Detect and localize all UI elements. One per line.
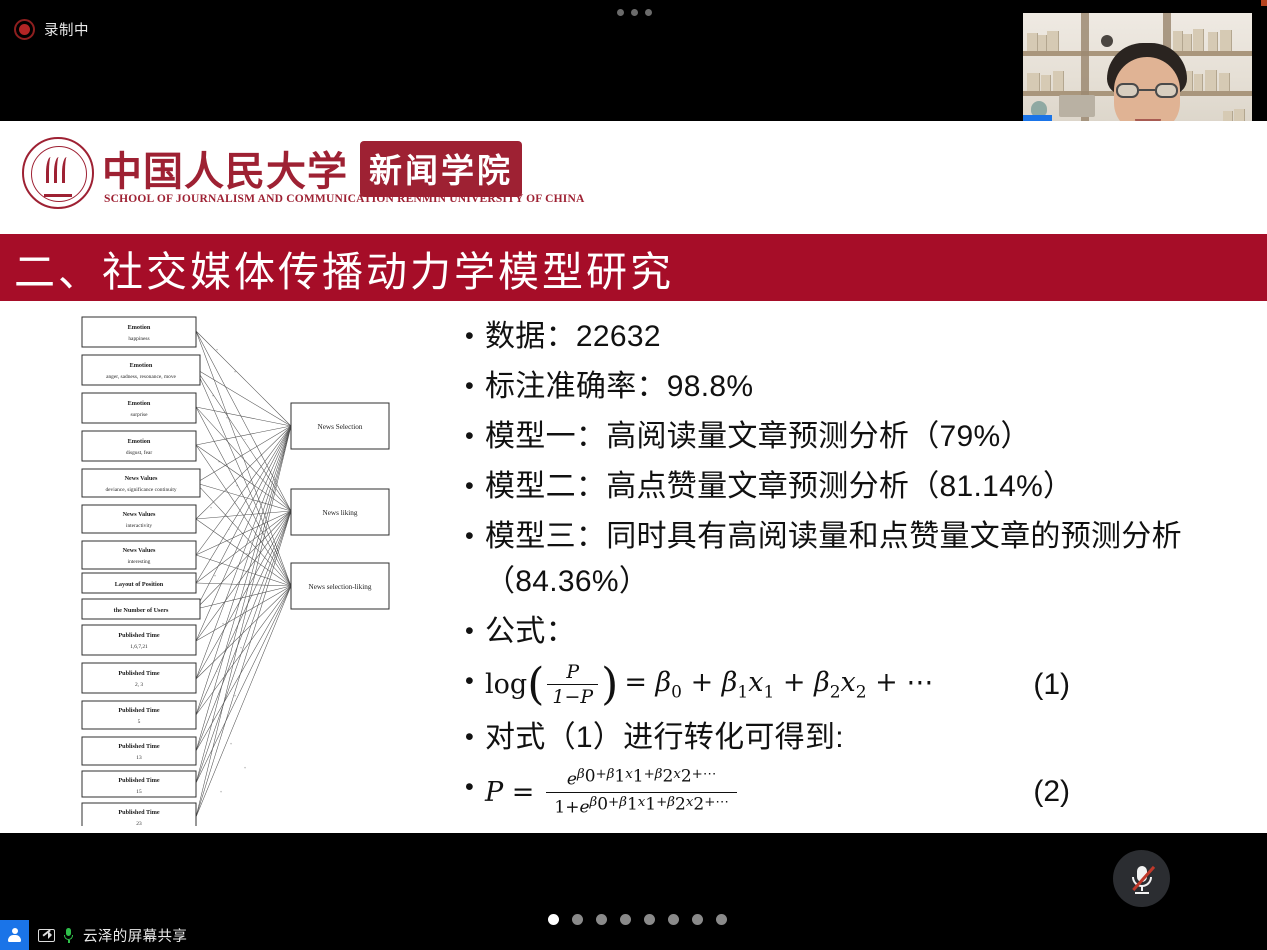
node-sub: interesting — [128, 559, 151, 565]
diagram-input-node: Emotion anger, sadness, resonance, move — [82, 355, 200, 385]
neural-network-path-diagram: +++ +−+ ++− +++ ++− +++ ++ Emotion happi… — [76, 311, 416, 826]
paren-close: ) — [601, 667, 618, 702]
bullet-text: 模型一：高阅读量文章预测分析（79%） — [485, 416, 1031, 457]
university-logo: 中国人民大学 新闻学院 SCHOOL OF JOURNALISM AND COM… — [22, 137, 502, 213]
svg-text:+: + — [216, 348, 218, 352]
shelf-book — [1220, 30, 1232, 51]
svg-text:+: + — [240, 646, 242, 650]
microphone-muted-icon[interactable] — [1113, 850, 1170, 907]
more-dots-icon[interactable] — [617, 9, 652, 16]
fraction-numerator: P — [561, 661, 584, 684]
formula-2-number: (2) — [1033, 775, 1255, 809]
svg-text:+: + — [246, 552, 248, 556]
svg-text:+: + — [244, 766, 246, 770]
bullet-item: • 数据：22632 — [455, 316, 1255, 357]
svg-text:+: + — [234, 370, 236, 374]
glasses-icon — [1116, 83, 1139, 98]
svg-text:+: + — [214, 574, 216, 578]
formula-transition-text: 对式（1）进行转化可得到: — [485, 717, 844, 758]
node-title: Published Time — [118, 743, 159, 750]
logo-english-name: SCHOOL OF JOURNALISM AND COMMUNICATION R… — [104, 193, 584, 205]
diagram-input-node: News Values interactivity — [82, 505, 196, 533]
svg-text:+: + — [234, 694, 236, 698]
svg-text:+: + — [222, 622, 224, 626]
bullet-marker: • — [455, 717, 485, 757]
svg-text:+: + — [220, 790, 222, 794]
bullet-item: • 对式（1）进行转化可得到: — [455, 717, 1255, 758]
university-seal-icon — [22, 137, 94, 209]
bullet-text: 公式： — [485, 611, 576, 652]
node-sub: 15 — [136, 789, 142, 795]
diagram-output-node: News liking — [291, 489, 389, 535]
bullet-item: • 标注准确率：98.8% — [455, 366, 1255, 407]
node-title: Emotion — [128, 438, 151, 445]
bullet-marker: • — [455, 466, 485, 506]
node-title: Published Time — [118, 670, 159, 677]
fraction-numerator: eβ0+β1x1+β2x2+⋯ — [559, 767, 724, 792]
node-title: Layout of Position — [115, 581, 164, 588]
svg-text:+: + — [212, 718, 214, 722]
diagram-input-node: Published Time 2, 3 — [82, 663, 196, 693]
shared-slide: 中国人民大学 新闻学院 SCHOOL OF JOURNALISM AND COM… — [0, 121, 1267, 833]
svg-text:+: + — [236, 484, 238, 488]
screen-share-label: 云泽的屏幕共享 — [83, 925, 187, 946]
record-dot-icon — [14, 19, 35, 40]
node-title: News Values — [125, 475, 158, 482]
shelf-book — [1027, 33, 1038, 51]
formula-1-log: log — [485, 669, 527, 700]
diagram-input-node: Emotion disgust, fear — [82, 431, 196, 461]
bullet-marker: • — [455, 767, 485, 807]
bullet-text: 数据：22632 — [485, 316, 661, 357]
svg-text:+: + — [210, 506, 212, 510]
bullet-item-continuation: （84.36%） — [455, 561, 1255, 602]
bullet-item: • 模型三：同时具有高阅读量和点赞量文章的预测分析 — [455, 516, 1255, 557]
fraction-denominator: 1−P — [547, 684, 598, 708]
logo-chinese-name: 中国人民大学 — [102, 139, 348, 197]
node-title: Published Time — [118, 632, 159, 639]
node-sub: interactivity — [126, 523, 152, 529]
node-title: Emotion — [128, 400, 151, 407]
svg-text:−: − — [244, 438, 246, 442]
diagram-input-node: Published Time 13 — [82, 737, 196, 765]
node-sub: 23 — [136, 821, 142, 826]
node-title: Emotion — [128, 324, 151, 331]
diagram-input-node: News Values interesting — [82, 541, 196, 569]
formula-2-lhs: P = — [485, 777, 534, 808]
diagram-input-nodes: Emotion happiness Emotion anger, sadness… — [82, 317, 200, 826]
node-title: Published Time — [118, 707, 159, 714]
person-icon — [0, 920, 29, 950]
formula-2: P = eβ0+β1x1+β2x2+⋯ 1+eβ0+β1x1+β2x2+⋯ — [485, 767, 741, 817]
svg-text:−: − — [228, 528, 230, 532]
node-sub: 13 — [136, 755, 142, 761]
node-sub: happiness — [128, 336, 149, 342]
node-title: Published Time — [118, 809, 159, 816]
bullet-marker: • — [455, 366, 485, 406]
screen-share-icon[interactable] — [38, 929, 55, 942]
node-label: News liking — [323, 509, 358, 517]
diagram-input-node: Published Time 5 — [82, 701, 196, 729]
bullet-marker: • — [455, 661, 485, 701]
paren-open: ( — [527, 667, 544, 702]
diagram-input-node: the Number of Users — [82, 599, 200, 619]
diagram-output-nodes: News Selection News liking News selectio… — [291, 403, 389, 609]
desk-monitor — [1059, 95, 1095, 117]
formula-1-number: (1) — [1033, 668, 1255, 702]
bullet-marker: • — [455, 611, 485, 651]
bullet-item: • 公式： — [455, 611, 1255, 652]
bullet-item: • 模型一：高阅读量文章预测分析（79%） — [455, 416, 1255, 457]
microphone-on-icon[interactable] — [63, 928, 74, 943]
corner-marker — [1261, 0, 1267, 6]
node-sub: surprise — [130, 412, 148, 418]
bullet-text: （84.36%） — [485, 561, 649, 602]
node-title: the Number of Users — [114, 607, 169, 614]
diagram-output-node: News Selection — [291, 403, 389, 449]
diagram-input-node: Emotion surprise — [82, 393, 196, 423]
screen-share-taskbar[interactable]: 云泽的屏幕共享 — [0, 920, 1267, 950]
formula-1-rhs: = β0 + β1x1 + β2x2 + ⋯ — [624, 667, 933, 702]
shelf-book — [1027, 73, 1040, 91]
node-sub: deviance, significance continuity — [105, 486, 176, 493]
node-label: News selection-liking — [309, 583, 372, 591]
slide-title-bar: 二、社交媒体传播动力学模型研究 — [0, 234, 1267, 301]
diagram-input-node: Published Time 15 — [82, 771, 196, 797]
bullet-marker: • — [455, 516, 485, 556]
node-sub: disgust, fear — [126, 449, 153, 456]
shelf-book — [1047, 31, 1059, 51]
svg-text:+: + — [212, 394, 214, 398]
slide-bullet-list: • 数据：22632 • 标注准确率：98.8% • 模型一：高阅读量文章预测分… — [455, 316, 1255, 826]
bullet-marker-empty — [455, 561, 485, 601]
formula-1-fraction: P 1−P — [547, 661, 598, 708]
diagram-input-node: Published Time 1,6,7,21 — [82, 625, 196, 655]
diagram-input-node: Layout of Position — [82, 573, 196, 593]
shelf-book — [1219, 73, 1230, 91]
fraction-denominator: 1+eβ0+β1x1+β2x2+⋯ — [546, 792, 736, 818]
diagram-input-node: News Values deviance, significance conti… — [82, 469, 200, 497]
svg-text:+: + — [232, 598, 234, 602]
diagram-input-node: Published Time 23 — [82, 803, 196, 826]
bullet-text: 模型二：高点赞量文章预测分析（81.14%） — [485, 466, 1073, 507]
node-sub: 5 — [138, 719, 141, 725]
slide-title: 二、社交媒体传播动力学模型研究 — [14, 238, 674, 298]
shelf-book — [1038, 35, 1047, 51]
svg-text:+: + — [218, 460, 220, 464]
bullet-marker: • — [455, 316, 485, 356]
bullet-marker: • — [455, 416, 485, 456]
svg-text:+: + — [226, 416, 228, 420]
node-title: News Values — [123, 547, 156, 554]
node-title: News Values — [123, 511, 156, 518]
bullet-text: 模型三：同时具有高阅读量和点赞量文章的预测分析 — [485, 516, 1182, 557]
shelf-book — [1041, 75, 1051, 91]
recording-indicator: 录制中 — [14, 19, 89, 40]
svg-text:−: − — [216, 670, 218, 674]
node-sub: 1,6,7,21 — [130, 644, 148, 650]
node-sub: 2, 3 — [135, 682, 143, 688]
shelf-book — [1205, 70, 1217, 91]
formula-1: log ( P 1−P ) = β0 + β1x1 + β2x2 + ⋯ — [485, 661, 933, 708]
recording-label: 录制中 — [44, 19, 89, 40]
shelf-book — [1053, 71, 1064, 91]
formula-2-row: • P = eβ0+β1x1+β2x2+⋯ 1+eβ0+β1x1+β2x2+⋯ … — [455, 767, 1255, 817]
formula-2-fraction: eβ0+β1x1+β2x2+⋯ 1+eβ0+β1x1+β2x2+⋯ — [546, 767, 736, 817]
bullet-item: • 模型二：高点赞量文章预测分析（81.14%） — [455, 466, 1255, 507]
diagram-output-node: News selection-liking — [291, 563, 389, 609]
formula-1-row: • log ( P 1−P ) = β0 + β1x1 + β2x2 + ⋯ (… — [455, 661, 1255, 708]
diagram-input-node: Emotion happiness — [82, 317, 196, 347]
node-label: News Selection — [318, 423, 363, 431]
bullet-text: 标注准确率：98.8% — [485, 366, 753, 407]
svg-text:+: + — [230, 742, 232, 746]
glasses-icon — [1155, 83, 1178, 98]
node-sub: anger, sadness, resonance, move — [106, 374, 176, 380]
node-title: Published Time — [118, 777, 159, 784]
diagram-connections — [196, 331, 291, 817]
node-title: Emotion — [130, 362, 153, 369]
logo-department-badge: 新闻学院 — [360, 141, 522, 197]
shelf-book — [1208, 32, 1218, 51]
